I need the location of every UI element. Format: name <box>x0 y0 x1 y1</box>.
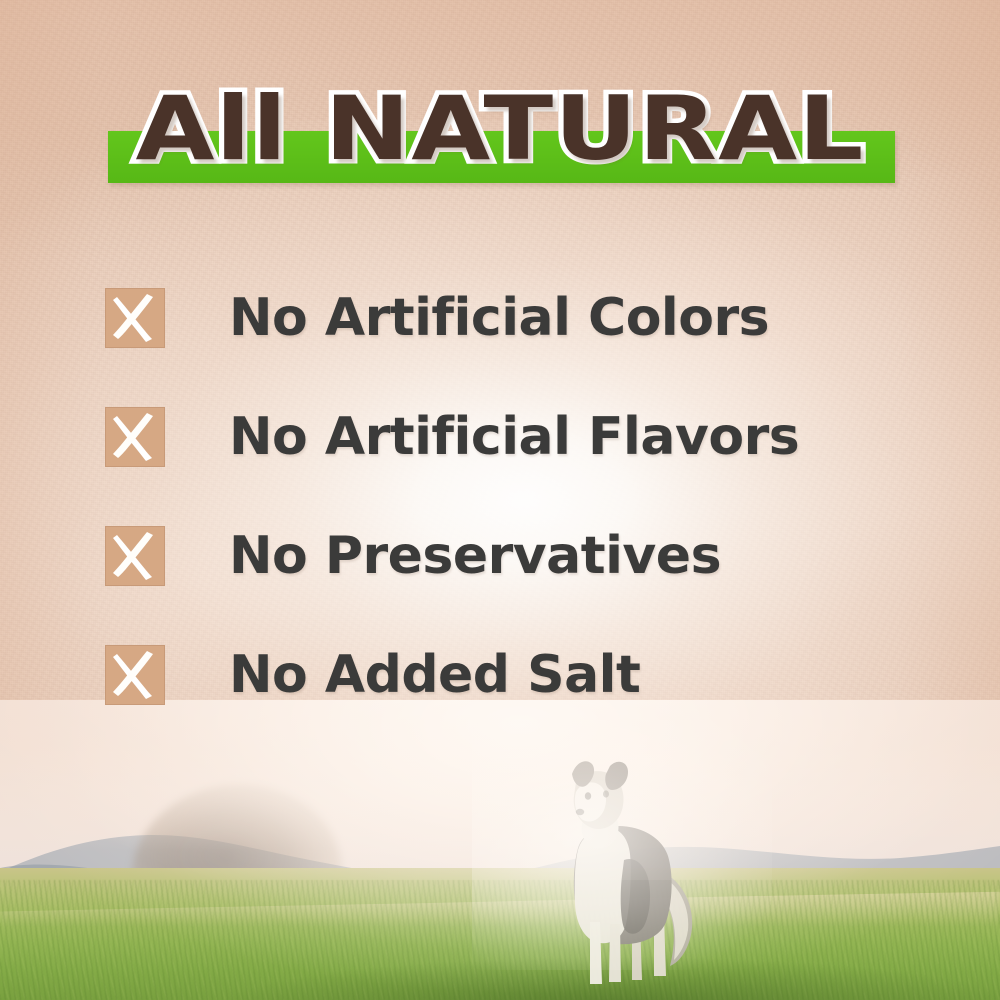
checkbox-no-added-salt[interactable] <box>105 645 165 705</box>
feature-label: No Artificial Flavors <box>229 409 799 465</box>
feature-row: No Preservatives <box>0 496 1000 615</box>
page-title: All NATURAL <box>0 70 1000 188</box>
all-natural-feature-panel: All NATURAL No Artificial Colors No Arti… <box>0 0 1000 1000</box>
feature-label: No Preservatives <box>229 528 721 584</box>
checkbox-no-preservatives[interactable] <box>105 526 165 586</box>
grass-shadow <box>0 930 1000 1000</box>
x-mark-icon <box>105 407 165 467</box>
border-collie-dog <box>520 752 720 992</box>
feature-row: No Artificial Flavors <box>0 377 1000 496</box>
checkbox-no-artificial-colors[interactable] <box>105 288 165 348</box>
x-mark-icon <box>105 645 165 705</box>
feature-list: No Artificial Colors No Artificial Flavo… <box>0 258 1000 734</box>
feature-row: No Artificial Colors <box>0 258 1000 377</box>
checkbox-no-artificial-flavors[interactable] <box>105 407 165 467</box>
x-mark-icon <box>105 288 165 348</box>
title-block: All NATURAL <box>0 70 1000 195</box>
x-mark-icon <box>105 526 165 586</box>
feature-label: No Artificial Colors <box>229 290 769 346</box>
feature-label: No Added Salt <box>229 647 640 703</box>
feature-row: No Added Salt <box>0 615 1000 734</box>
landscape-photo <box>0 700 1000 1000</box>
